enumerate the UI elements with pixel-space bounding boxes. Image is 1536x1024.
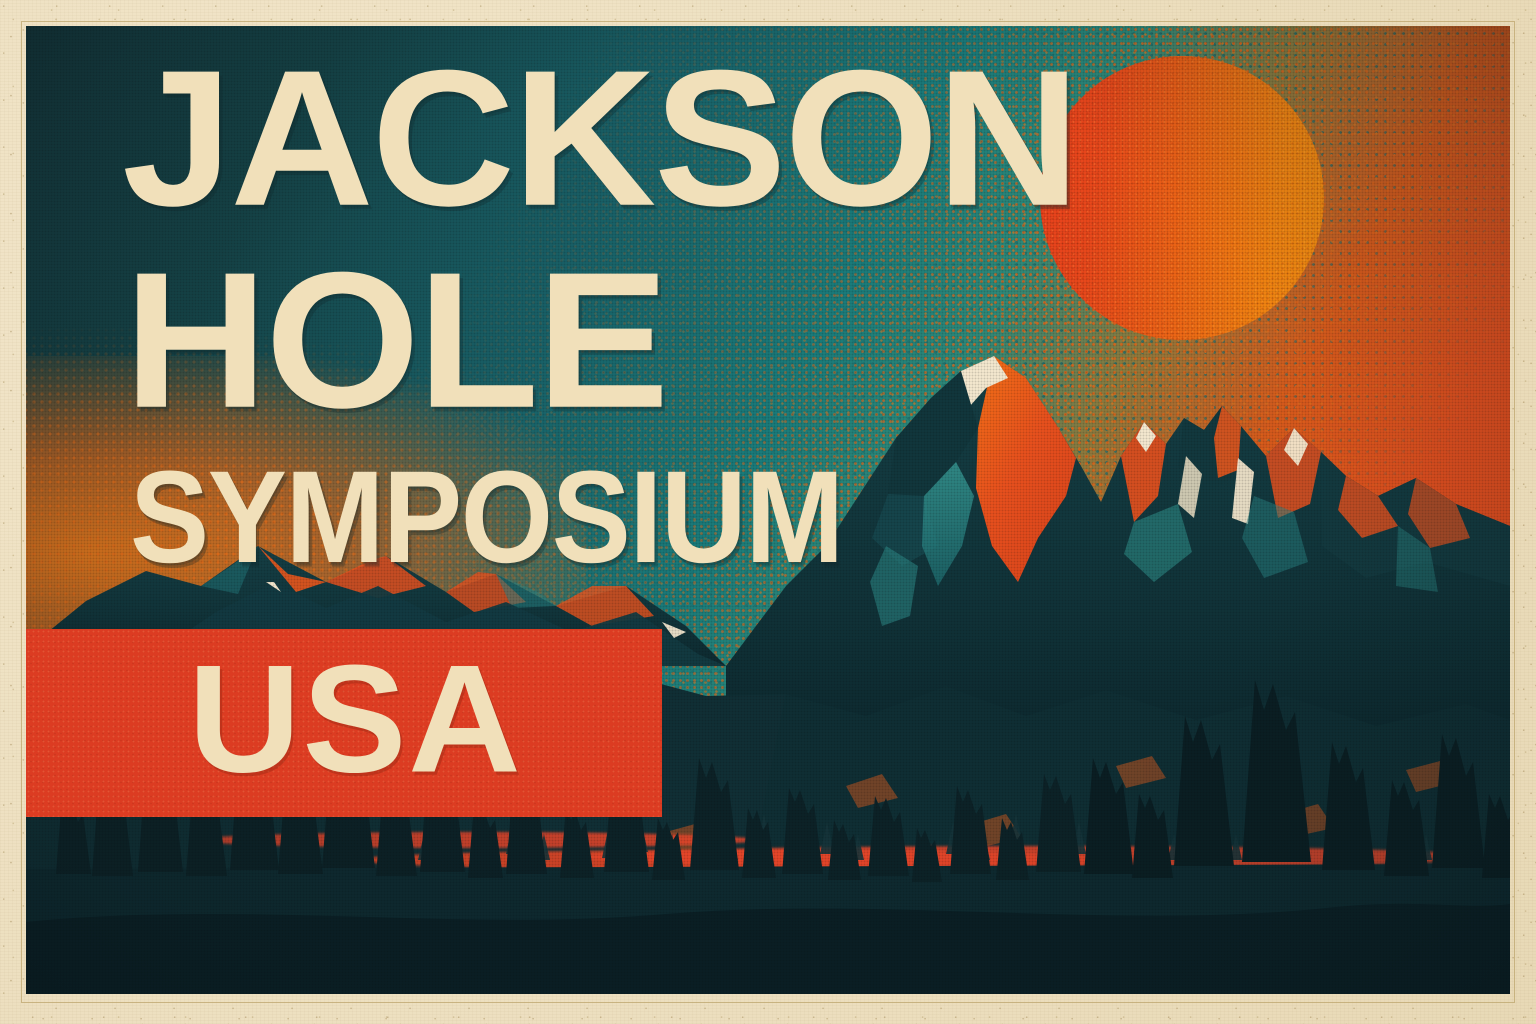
country-banner: USA: [26, 629, 662, 817]
headline-line-2: HOLE: [124, 266, 667, 417]
country-banner-label: USA: [188, 643, 522, 796]
poster-artwork: JACKSON HOLE SYMPOSIUM: [26, 26, 1510, 994]
headline-line-1: JACKSON: [122, 64, 1078, 215]
vintage-travel-poster: JACKSON HOLE SYMPOSIUM USA: [0, 0, 1536, 1024]
poster-subheading: SYMPOSIUM: [130, 466, 843, 568]
